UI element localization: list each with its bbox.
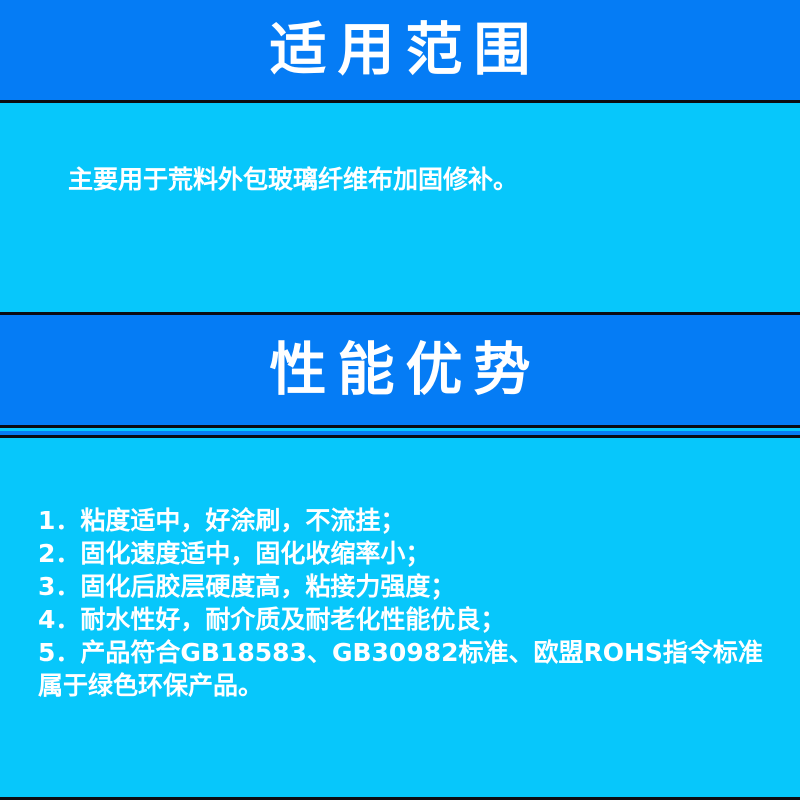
scope-section-body: 主要用于荒料外包玻璃纤维布加固修补。 — [0, 106, 800, 312]
performance-section-body: 1．粘度适中，好涂刷，不流挂； 2．固化速度适中，固化收缩率小； 3．固化后胶层… — [0, 438, 800, 797]
list-item: 3．固化后胶层硬度高，粘接力强度； — [38, 570, 764, 603]
list-item: 2．固化速度适中，固化收缩率小； — [38, 537, 764, 570]
scope-banner-title: 适用范围 — [259, 22, 542, 79]
list-item: 5．产品符合GB18583、GB30982标准、欧盟ROHS指令标准属于绿色环保… — [38, 636, 764, 702]
performance-banner-title: 性能优势 — [259, 342, 542, 399]
scope-section-banner: 适用范围 — [0, 0, 800, 103]
performance-section-banner: 性能优势 — [0, 312, 800, 428]
list-item: 4．耐水性好，耐介质及耐老化性能优良； — [38, 603, 764, 636]
scope-description-text: 主要用于荒料外包玻璃纤维布加固修补。 — [68, 162, 518, 197]
product-info-page: 适用范围 主要用于荒料外包玻璃纤维布加固修补。 性能优势 1．粘度适中，好涂刷，… — [0, 0, 800, 800]
list-item: 1．粘度适中，好涂刷，不流挂； — [38, 504, 764, 537]
performance-feature-list: 1．粘度适中，好涂刷，不流挂； 2．固化速度适中，固化收缩率小； 3．固化后胶层… — [38, 504, 764, 702]
performance-banner-underline-strip — [0, 431, 800, 438]
